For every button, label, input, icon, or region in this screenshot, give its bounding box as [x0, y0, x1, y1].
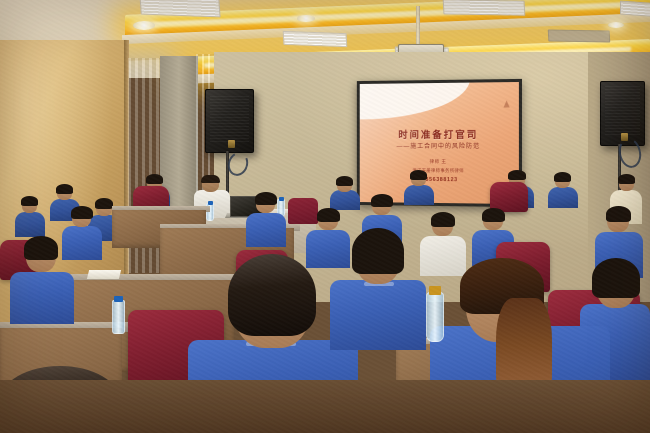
audience-person [548, 172, 578, 206]
audience-person [330, 176, 360, 208]
meeting-room-photo: 时间准备打官司 ——施工合同中的风险防范 律师 王 浙江天册律师事务所律师 13… [0, 0, 650, 433]
speaker-badge-icon [228, 140, 235, 148]
air-vent-icon [283, 31, 348, 47]
audience-person [15, 196, 45, 236]
air-vent-icon [139, 0, 220, 17]
air-vent-icon [548, 29, 611, 42]
audience-person [330, 228, 426, 348]
floor [0, 380, 650, 433]
water-bottle [112, 300, 125, 334]
audience-person [246, 192, 286, 246]
audience-person [10, 236, 74, 322]
water-bottle [426, 292, 444, 342]
projector-mount-pole [416, 6, 420, 46]
downlight-icon [297, 15, 315, 22]
downlight-icon [608, 22, 624, 28]
wall-speaker-left [205, 89, 254, 153]
papers-stack [87, 270, 121, 279]
air-vent-icon [443, 0, 526, 16]
speaker-grille-icon [210, 94, 249, 142]
wall-speaker-right [600, 81, 645, 146]
speaker-grille-icon [605, 86, 640, 135]
audience-person [404, 170, 434, 204]
downlight-icon [133, 21, 155, 30]
